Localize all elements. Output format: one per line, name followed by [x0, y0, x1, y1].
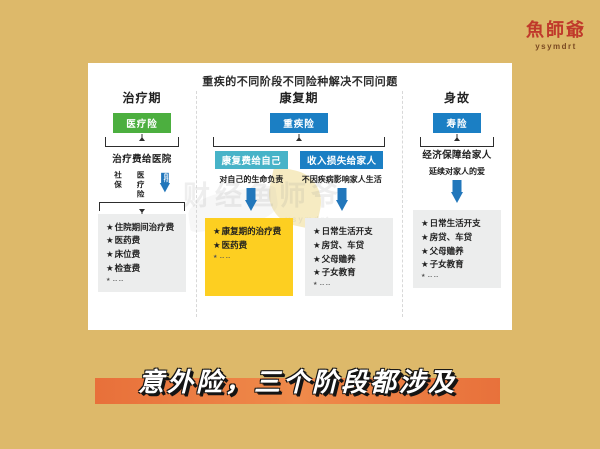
list-item-label: 医药费 — [222, 240, 248, 250]
list-item: ★子女教育 — [421, 258, 493, 272]
star-icon: ★ — [106, 249, 114, 259]
list-item-label: 医药费 — [115, 235, 141, 245]
star-icon: ★ — [313, 281, 318, 287]
star-icon: ★ — [313, 226, 321, 236]
ellipsis-label: …… — [319, 281, 331, 287]
list-item-label: 子女教育 — [322, 267, 356, 277]
list-item: ★康复期的治疗费 — [213, 225, 285, 239]
bracket-tick-icon — [454, 137, 460, 141]
list-item: ★住院期间治疗费 — [106, 221, 178, 235]
list-item: ★子女教育 — [313, 266, 385, 280]
star-icon: ★ — [421, 218, 429, 228]
card-group-treatment: ★住院期间治疗费 ★医药费 ★床位费 ★检查费 ★…… — [98, 214, 186, 292]
list-item-ellipsis: ★…… — [313, 280, 385, 288]
list-item-label: 父母赡养 — [322, 254, 356, 264]
benefit-sub-death: 延续对家人的爱 — [422, 166, 491, 177]
list-item-label: 日常生活开支 — [322, 226, 373, 236]
expense-card-recovery-self: ★康复期的治疗费 ★医药费 ★…… — [205, 218, 293, 296]
bracket-tick-icon — [139, 137, 145, 141]
down-arrow-icon-recovery-family — [335, 188, 348, 212]
list-item: ★医药费 — [106, 234, 178, 248]
expense-card-death: ★日常生活开支 ★房贷、车贷 ★父母赡养 ★子女教育 ★…… — [413, 210, 501, 288]
merge-bracket-treatment — [99, 202, 185, 214]
arrow-caption-self-pay: 自付 — [162, 173, 167, 182]
ellipsis-label: …… — [112, 277, 124, 283]
list-item-label: 房贷、车贷 — [430, 232, 473, 242]
star-icon: ★ — [106, 263, 114, 273]
arrow-head — [336, 200, 348, 211]
list-item-label: 日常生活开支 — [430, 218, 481, 228]
bracket-connector-treatment — [105, 134, 179, 147]
stage-columns: 治疗期 医疗险 治疗费给医院 社保 医疗险 自付 — [88, 89, 512, 330]
benefit-row-recovery: 康复费给自己 对自己的生命负责 收入损失给家人 不因疾病影响家人生活 — [215, 151, 384, 212]
brand-logo: 魚師爺 ysymdrt — [526, 22, 586, 51]
product-chip-medical-insurance[interactable]: 医疗险 — [113, 113, 171, 133]
list-item: ★日常生活开支 — [313, 225, 385, 239]
list-item: ★医药费 — [213, 239, 285, 253]
product-chip-life-insurance[interactable]: 寿险 — [433, 113, 480, 133]
star-icon: ★ — [421, 232, 429, 242]
list-item-label: 住院期间治疗费 — [115, 222, 175, 232]
benefit-label-death: 经济保障给家人 — [422, 147, 491, 161]
brand-name-cn: 魚師爺 — [526, 22, 586, 40]
infographic-panel: 财经鱼师爷 ysymdrt 重疾的不同阶段不同险种解决不同问题 治疗期 医疗险 … — [88, 63, 512, 330]
benefit-label: 治疗费给医院 — [112, 151, 171, 165]
column-recovery: 康复期 重疾险 康复费给自己 对自己的生命负责 — [196, 89, 402, 330]
down-arrow-icon-self-pay: 自付 — [159, 173, 170, 193]
list-item-label: 房贷、车贷 — [322, 240, 365, 250]
bottom-banner-text: 意外险，三个阶段都涉及 — [95, 358, 500, 402]
ellipsis-label: …… — [427, 273, 439, 279]
page-title: 重疾的不同阶段不同险种解决不同问题 — [88, 73, 512, 89]
arrow-head — [451, 192, 463, 203]
star-icon: ★ — [421, 246, 429, 256]
list-item: ★床位费 — [106, 248, 178, 262]
expense-card-recovery-family: ★日常生活开支 ★房贷、车贷 ★父母赡养 ★子女教育 ★…… — [305, 218, 393, 296]
list-item-label: 康复期的治疗费 — [222, 226, 282, 236]
star-icon: ★ — [106, 222, 114, 232]
list-item: ★房贷、车贷 — [313, 239, 385, 253]
benefit-recovery-family: 收入损失给家人 不因疾病影响家人生活 — [300, 151, 383, 212]
brand-name-en: ysymdrt — [526, 43, 586, 51]
star-icon: ★ — [106, 235, 114, 245]
list-item-ellipsis: ★…… — [213, 253, 285, 261]
star-icon: ★ — [421, 259, 429, 269]
bracket-connector-recovery — [213, 134, 385, 147]
list-item: ★房贷、车贷 — [421, 231, 493, 245]
benefit-label-self[interactable]: 康复费给自己 — [215, 151, 288, 169]
star-icon: ★ — [313, 240, 321, 250]
arrow-head — [160, 183, 170, 192]
column-death: 身故 寿险 经济保障给家人 延续对家人的爱 ★日常生活开支 — [402, 89, 512, 330]
list-item-label: 检查费 — [115, 263, 141, 273]
benefit-sub-self: 对自己的生命负责 — [215, 174, 288, 185]
card-group-recovery: ★康复期的治疗费 ★医药费 ★…… ★日常生活开支 ★房贷、车贷 ★父母赡养 ★… — [205, 218, 393, 296]
payer-label-social-insurance: 社保 — [113, 171, 122, 190]
down-arrow-icon-death — [451, 180, 464, 204]
star-icon: ★ — [213, 254, 218, 260]
star-icon: ★ — [421, 273, 426, 279]
list-item: ★父母赡养 — [313, 253, 385, 267]
bracket-tick-icon — [296, 137, 302, 141]
payer-label-medical-insurance: 医疗险 — [136, 171, 145, 200]
down-arrow-icon-recovery-self — [245, 188, 258, 212]
list-item-ellipsis: ★…… — [106, 276, 178, 284]
ellipsis-label: …… — [219, 254, 231, 260]
card-group-death: ★日常生活开支 ★房贷、车贷 ★父母赡养 ★子女教育 ★…… — [413, 210, 501, 288]
star-icon: ★ — [106, 277, 111, 283]
benefit-sub-family: 不因疾病影响家人生活 — [300, 174, 383, 185]
payer-labels-treatment: 社保 医疗险 自付 — [113, 171, 171, 200]
benefit-label-family[interactable]: 收入损失给家人 — [300, 151, 383, 169]
list-item: ★父母赡养 — [421, 245, 493, 259]
list-item-label: 父母赡养 — [430, 246, 464, 256]
expense-card-treatment: ★住院期间治疗费 ★医药费 ★床位费 ★检查费 ★…… — [98, 214, 186, 292]
benefit-treatment-hospital: 治疗费给医院 — [112, 151, 171, 165]
star-icon: ★ — [213, 226, 221, 236]
list-item-ellipsis: ★…… — [421, 272, 493, 280]
product-chip-critical-illness-insurance[interactable]: 重疾险 — [270, 113, 328, 133]
star-icon: ★ — [313, 254, 321, 264]
merge-tick-icon — [139, 209, 145, 213]
list-item-label: 床位费 — [115, 249, 141, 259]
list-item: ★日常生活开支 — [421, 217, 493, 231]
bracket-connector-death — [420, 134, 494, 147]
star-icon: ★ — [213, 240, 221, 250]
column-header-recovery: 康复期 — [279, 89, 318, 106]
benefit-row-treatment: 治疗费给医院 — [112, 151, 171, 165]
column-header-death: 身故 — [444, 89, 470, 106]
arrow-head — [245, 200, 257, 211]
column-treatment: 治疗期 医疗险 治疗费给医院 社保 医疗险 自付 — [88, 89, 196, 330]
star-icon: ★ — [313, 267, 321, 277]
benefit-recovery-self: 康复费给自己 对自己的生命负责 — [215, 151, 288, 212]
benefit-death-family: 经济保障给家人 延续对家人的爱 — [422, 147, 491, 204]
list-item: ★检查费 — [106, 262, 178, 276]
column-header-treatment: 治疗期 — [122, 89, 161, 106]
list-item-label: 子女教育 — [430, 259, 464, 269]
